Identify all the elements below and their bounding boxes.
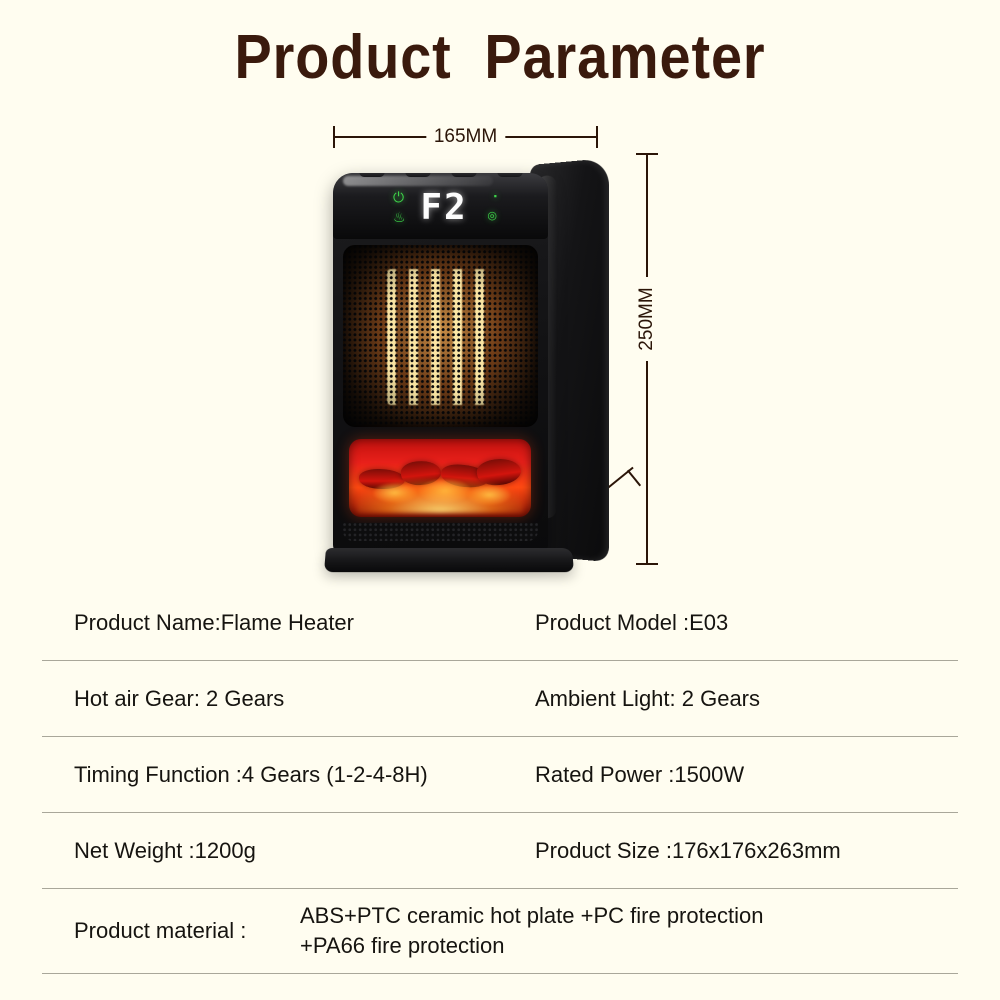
page-title: Product Parameter [50, 22, 950, 93]
bezel-highlight [343, 176, 493, 186]
flame-icon: ♨ [393, 210, 406, 224]
flame-effect-window [349, 439, 531, 517]
heater-lower-vent [343, 523, 538, 541]
grille-vignette [343, 245, 538, 427]
dimension-width-cap-left [333, 126, 335, 148]
heater-product-image: ⏻ ♨ F2 ▪ ◎ [325, 155, 625, 575]
spec-product-size: Product Size :176x176x263mm [535, 838, 958, 864]
heater-display-bezel: ⏻ ♨ F2 ▪ ◎ [333, 173, 548, 239]
indicator-small-icon: ▪ [494, 192, 497, 201]
power-icon: ⏻ [393, 190, 404, 204]
power-button[interactable] [359, 173, 385, 177]
led-display: ⏻ ♨ F2 ▪ ◎ [389, 187, 499, 229]
indicator-round-icon: ◎ [487, 211, 497, 222]
led-value: F2 [420, 190, 467, 226]
heater-front-body: ⏻ ♨ F2 ▪ ◎ [333, 173, 548, 555]
table-row: Product Name:Flame Heater Product Model … [42, 585, 958, 661]
spec-rated-power: Rated Power :1500W [535, 762, 958, 788]
spec-product-model: Product Model :E03 [535, 610, 958, 636]
mode-button[interactable] [405, 173, 431, 177]
heater-base [324, 548, 574, 572]
spec-timing-function: Timing Function :4 Gears (1-2-4-8H) [42, 762, 535, 788]
heater-grille [343, 245, 538, 427]
spec-material-value: ABS+PTC ceramic hot plate +PC fire prote… [300, 901, 763, 960]
timer-button[interactable] [451, 173, 477, 177]
dimension-width-label: 165MM [426, 123, 505, 151]
dimension-width-cap-right [596, 126, 598, 148]
dimension-width: 165MM [333, 123, 598, 151]
spec-material-label: Product material : [42, 918, 300, 944]
table-row-material: Product material : ABS+PTC ceramic hot p… [42, 889, 958, 974]
spec-product-name: Product Name:Flame Heater [42, 610, 535, 636]
table-row: Hot air Gear: 2 Gears Ambient Light: 2 G… [42, 661, 958, 737]
spec-material-line-1: ABS+PTC ceramic hot plate +PC fire prote… [300, 901, 763, 931]
dimension-height-label: 250MM [631, 277, 663, 361]
dimension-height-cap-top [636, 153, 658, 155]
spec-table: Product Name:Flame Heater Product Model … [42, 585, 958, 974]
table-row: Net Weight :1200g Product Size :176x176x… [42, 813, 958, 889]
spec-hot-air-gear: Hot air Gear: 2 Gears [42, 686, 535, 712]
spec-material-line-2: +PA66 fire protection [300, 931, 763, 961]
light-button[interactable] [497, 173, 523, 177]
product-figure: 165MM 250MM 115MM ⏻ ♨ [0, 105, 1000, 585]
spec-ambient-light: Ambient Light: 2 Gears [535, 686, 958, 712]
spec-net-weight: Net Weight :1200g [42, 838, 535, 864]
table-row: Timing Function :4 Gears (1-2-4-8H) Rate… [42, 737, 958, 813]
flame-glow [357, 479, 523, 513]
